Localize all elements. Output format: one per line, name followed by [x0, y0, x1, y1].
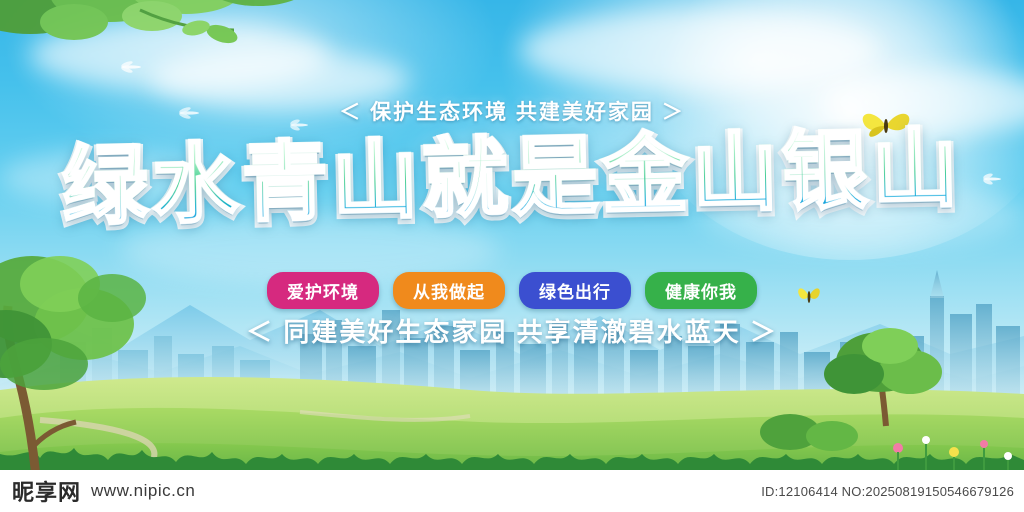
- tag-row: 爱护环境 从我做起 绿色出行 健康你我: [0, 272, 1024, 309]
- cloud-shape: [520, 10, 880, 90]
- top-leaf-canopy: [0, 0, 350, 110]
- dragonfly-icon: [118, 58, 144, 76]
- sub-slogan: ＜ 同建美好生态家园 共享清澈碧水蓝天 ＞: [0, 312, 1024, 349]
- tag-chip-3[interactable]: 绿色出行: [519, 272, 631, 309]
- site-logo-text: 昵享网: [12, 475, 81, 507]
- site-url-text[interactable]: www.nipic.cn: [91, 481, 195, 501]
- headline-text: 绿水青山就是金山银山: [0, 121, 1024, 235]
- tag-chip-1[interactable]: 爱护环境: [267, 272, 379, 309]
- asset-id-text: ID:12106414 NO:20250819150546679126: [761, 484, 1014, 499]
- tag-chip-4[interactable]: 健康你我: [645, 272, 757, 309]
- right-bushes: [760, 392, 880, 452]
- tag-chip-2[interactable]: 从我做起: [393, 272, 505, 309]
- poster-canvas: ＜ 保护生态环境 共建美好家园 ＞ 绿水青山就是金山银山 绿水青山就是金山银山 …: [0, 0, 1024, 512]
- footer-bar: 昵享网 www.nipic.cn ID:12106414 NO:20250819…: [0, 470, 1024, 512]
